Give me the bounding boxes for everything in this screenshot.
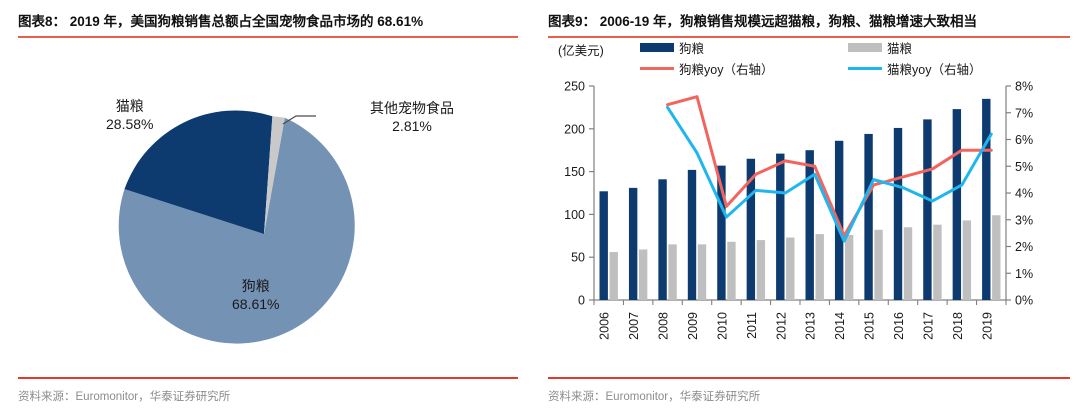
pie-label-dog-value: 68.61% [232,296,279,314]
y-tick-label-right: 4% [1015,187,1033,201]
y-tick-label-left: 100 [564,208,585,222]
x-tick-label: 2015 [863,312,877,340]
x-tick-label: 2016 [892,312,906,340]
figure-9-title: 图表9： 2006-19 年，狗粮销售规模远超猫粮，狗粮、猫粮增速大致相当 [548,0,1070,36]
bar-cat [992,215,1000,300]
bar-dog [688,170,696,300]
y-tick-label-right: 6% [1015,133,1033,147]
bar-cat [610,252,618,300]
line-cat-yoy [668,107,992,241]
y-tick-label-right: 5% [1015,160,1033,174]
bar-dog [864,134,872,300]
x-tick-label: 2011 [745,312,759,339]
figure-9-footer: 资料来源：Euromonitor，华泰证券研究所 [548,377,1070,404]
y-tick-label-right: 2% [1015,240,1033,254]
pie-label-cat-value: 28.58% [106,116,153,134]
bar-cat [874,230,882,300]
bar-dog [629,188,637,300]
x-tick-label: 2008 [657,312,671,340]
bar-cat [668,244,676,300]
figure-9-source: 资料来源：Euromonitor，华泰证券研究所 [548,379,1070,404]
bar-dog [806,150,814,300]
y-tick-label-right: 3% [1015,213,1033,227]
bar-dog [923,119,931,300]
bar-cat [727,242,735,300]
bar-cat [845,235,853,300]
pie-label-dog: 狗粮 68.61% [232,278,279,314]
x-tick-label: 2012 [774,312,788,340]
bar-dog [982,99,990,300]
x-tick-label: 2009 [686,312,700,340]
pie-label-other: 其他宠物食品 2.81% [370,100,454,136]
y-tick-label-right: 1% [1015,267,1033,281]
x-tick-label: 2018 [951,312,965,340]
figure-8-panel: 图表8： 2019 年，美国狗粮销售总额占全国宠物食品市场的 68.61% [0,0,540,412]
bar-dog [600,191,608,300]
x-tick-label: 2010 [715,312,729,340]
y-tick-label-right: 7% [1015,106,1033,120]
bar-cat [786,238,794,300]
y-tick-label-left: 150 [564,165,585,179]
pie-label-other-name: 其他宠物食品 [370,100,454,118]
bar-cat [904,227,912,300]
y-tick-label-left: 0 [578,294,585,308]
bar-cat [757,240,765,300]
figure-8-source: 资料来源：Euromonitor，华泰证券研究所 [18,379,518,404]
bar-dog [658,179,666,300]
bar-cat [963,220,971,300]
y-tick-label-right: 0% [1015,294,1033,308]
bar-dog [953,109,961,300]
bar-line-chart-svg: 0501001502002500%1%2%3%4%5%6%7%8%2006200… [548,38,1072,368]
x-tick-label: 2014 [833,312,847,340]
pie-label-dog-name: 狗粮 [232,278,279,296]
figure-9-panel: 图表9： 2006-19 年，狗粮销售规模远超猫粮，狗粮、猫粮增速大致相当 (亿… [540,0,1080,412]
x-tick-label: 2017 [921,312,935,340]
bar-cat [816,234,824,300]
figure-8-title: 图表8： 2019 年，美国狗粮销售总额占全国宠物食品市场的 68.61% [18,0,518,36]
bar-cat [639,249,647,300]
bar-cat [933,225,941,300]
bar-cat [698,244,706,300]
y-tick-label-left: 250 [564,80,585,94]
x-tick-label: 2019 [980,312,994,340]
line-dog-yoy [668,97,992,236]
y-tick-label-left: 200 [564,122,585,136]
x-tick-label: 2007 [627,312,641,340]
figure-8-footer: 资料来源：Euromonitor，华泰证券研究所 [18,377,518,404]
x-tick-label: 2006 [598,312,612,340]
bar-dog [894,128,902,300]
bar-dog [776,154,784,300]
x-tick-label: 2013 [804,312,818,340]
figure-page: 图表8： 2019 年，美国狗粮销售总额占全国宠物食品市场的 68.61% [0,0,1080,412]
pie-label-other-value: 2.81% [370,118,454,136]
y-tick-label-right: 8% [1015,80,1033,94]
pie-label-cat: 猫粮 28.58% [106,98,153,134]
pie-chart: 猫粮 28.58% 其他宠物食品 2.81% 狗粮 68.61% [18,38,518,358]
y-tick-label-left: 50 [571,251,585,265]
bar-line-chart: (亿美元) 狗粮 猫粮 狗粮yoy（右轴） 猫粮yoy（右轴） [548,38,1072,368]
pie-label-cat-name: 猫粮 [106,98,153,116]
